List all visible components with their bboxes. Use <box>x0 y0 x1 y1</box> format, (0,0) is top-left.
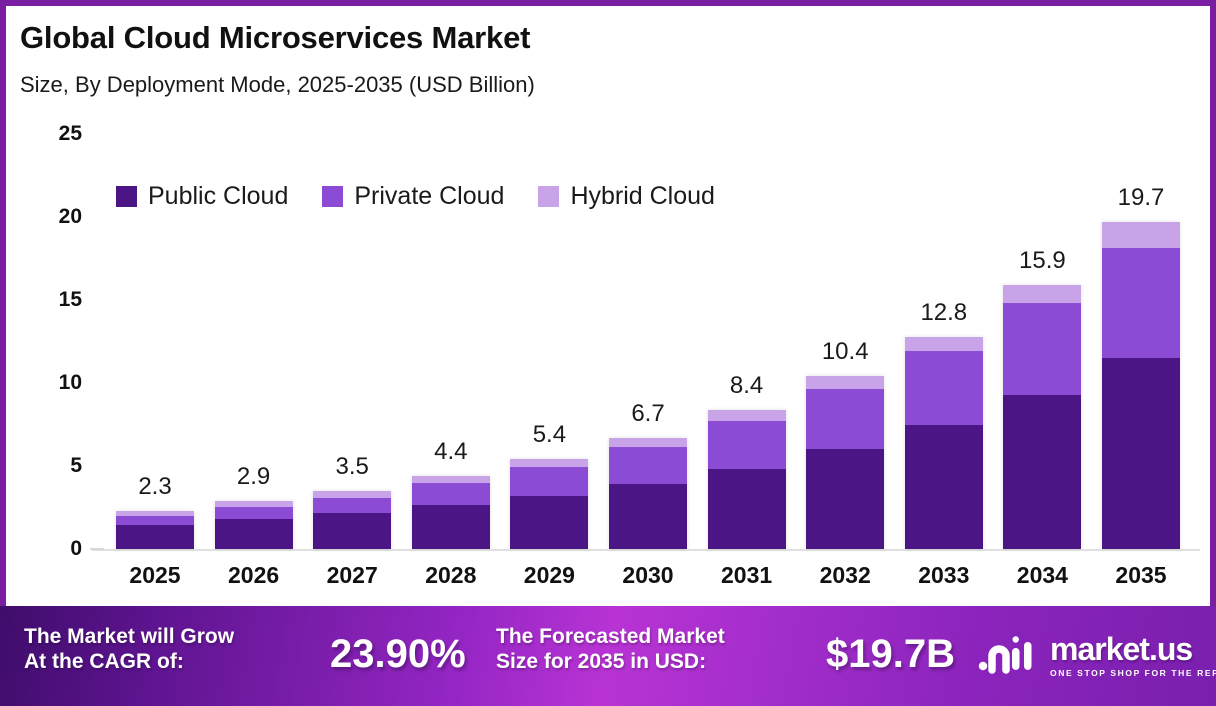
bar-segment-private-2033 <box>905 351 983 425</box>
square-swatch-icon <box>116 186 137 207</box>
legend-label-private-cloud: Private Cloud <box>354 182 504 211</box>
bar-segment-public-2029 <box>510 496 588 549</box>
bar-value-label-2034: 15.9 <box>1019 247 1066 275</box>
cagr-caption-line1: The Market will Grow <box>24 625 234 650</box>
y-axis-zero-tick <box>90 548 104 550</box>
x-axis-tick-label-2030: 2030 <box>622 562 673 589</box>
forecast-size-caption-line2: Size for 2035 in USD: <box>496 650 725 675</box>
logo-text: market.us ONE STOP SHOP FOR THE REPORTS <box>1050 633 1216 678</box>
bar-segment-hybrid-2033 <box>905 337 983 351</box>
bar-2026[interactable] <box>215 501 293 549</box>
logo-wordmark: market.us <box>1050 633 1216 665</box>
bar-segment-hybrid-2032 <box>806 376 884 388</box>
market-report-chart-infographic: Global Cloud Microservices Market Size, … <box>0 0 1216 706</box>
square-swatch-icon <box>538 186 559 207</box>
cagr-caption-line2: At the CAGR of: <box>24 650 234 675</box>
bar-segment-public-2031 <box>708 469 786 550</box>
bar-value-label-2025: 2.3 <box>138 473 171 501</box>
bar-segment-private-2029 <box>510 467 588 496</box>
logo-tagline: ONE STOP SHOP FOR THE REPORTS <box>1050 668 1216 678</box>
bar-value-label-2033: 12.8 <box>920 299 967 327</box>
bar-segment-private-2026 <box>215 507 293 519</box>
bar-segment-public-2030 <box>609 484 687 549</box>
market-us-logo-icon <box>978 636 1040 676</box>
bar-segment-hybrid-2028 <box>412 476 490 483</box>
bar-segment-hybrid-2030 <box>609 438 687 447</box>
chart-area: Global Cloud Microservices Market Size, … <box>6 6 1210 606</box>
forecast-size-value: $19.7B <box>826 632 955 677</box>
x-axis-tick-label-2026: 2026 <box>228 562 279 589</box>
bar-segment-private-2030 <box>609 447 687 484</box>
bar-2034[interactable] <box>1003 285 1081 549</box>
bar-segment-public-2027 <box>313 513 391 549</box>
bar-2029[interactable] <box>510 459 588 549</box>
bar-segment-public-2035 <box>1102 358 1180 549</box>
forecast-size-caption-line1: The Forecasted Market <box>496 625 725 650</box>
x-axis-tick-label-2031: 2031 <box>721 562 772 589</box>
legend-label-public-cloud: Public Cloud <box>148 182 288 211</box>
frame-border-right <box>1210 0 1216 606</box>
bar-2028[interactable] <box>412 476 490 549</box>
y-axis-tick-label: 0 <box>34 537 82 561</box>
y-axis-tick-label: 25 <box>34 122 82 146</box>
x-axis-tick-label-2034: 2034 <box>1017 562 1068 589</box>
bar-value-label-2030: 6.7 <box>631 400 664 428</box>
legend-item-private-cloud[interactable]: Private Cloud <box>322 182 504 211</box>
square-swatch-icon <box>322 186 343 207</box>
bar-segment-public-2034 <box>1003 395 1081 549</box>
cagr-value: 23.90% <box>330 632 466 677</box>
legend-item-public-cloud[interactable]: Public Cloud <box>116 182 288 211</box>
bar-value-label-2029: 5.4 <box>533 421 566 449</box>
bar-value-label-2027: 3.5 <box>336 453 369 481</box>
x-axis-tick-label-2033: 2033 <box>918 562 969 589</box>
x-axis-tick-label-2025: 2025 <box>129 562 180 589</box>
bar-value-label-2028: 4.4 <box>434 438 467 466</box>
x-axis-tick-label-2028: 2028 <box>425 562 476 589</box>
bar-segment-private-2034 <box>1003 303 1081 395</box>
bar-segment-private-2032 <box>806 389 884 449</box>
bar-2031[interactable] <box>708 410 786 549</box>
bar-segment-hybrid-2035 <box>1102 222 1180 248</box>
bar-2027[interactable] <box>313 491 391 549</box>
brand-logo[interactable]: market.us ONE STOP SHOP FOR THE REPORTS <box>978 633 1216 678</box>
bar-segment-private-2025 <box>116 516 194 525</box>
bar-segment-private-2031 <box>708 421 786 468</box>
legend-label-hybrid-cloud: Hybrid Cloud <box>570 182 715 211</box>
x-axis-tick-label-2027: 2027 <box>327 562 378 589</box>
bar-value-label-2035: 19.7 <box>1118 184 1165 212</box>
bar-value-label-2031: 8.4 <box>730 372 763 400</box>
axis-baseline <box>92 549 1200 551</box>
plot-region: 05101520252.320252.920263.520274.420285.… <box>6 6 1210 606</box>
bar-2025[interactable] <box>116 511 194 549</box>
bar-segment-private-2035 <box>1102 248 1180 358</box>
x-axis-tick-label-2029: 2029 <box>524 562 575 589</box>
bar-2032[interactable] <box>806 376 884 549</box>
y-axis-tick-label: 20 <box>34 205 82 229</box>
x-axis-tick-label-2032: 2032 <box>820 562 871 589</box>
bar-segment-public-2033 <box>905 425 983 550</box>
bar-value-label-2032: 10.4 <box>822 338 869 366</box>
bar-segment-public-2032 <box>806 449 884 549</box>
bar-2030[interactable] <box>609 438 687 549</box>
x-axis-tick-label-2035: 2035 <box>1115 562 1166 589</box>
bar-2033[interactable] <box>905 337 983 549</box>
chart-legend: Public Cloud Private Cloud Hybrid Cloud <box>116 182 715 211</box>
y-axis-tick-label: 15 <box>34 288 82 312</box>
bar-segment-public-2028 <box>412 505 490 549</box>
bar-segment-public-2026 <box>215 519 293 549</box>
forecast-size-caption: The Forecasted Market Size for 2035 in U… <box>496 625 725 675</box>
bar-segment-hybrid-2029 <box>510 459 588 466</box>
bar-segment-hybrid-2034 <box>1003 285 1081 302</box>
bar-segment-hybrid-2031 <box>708 410 786 422</box>
bar-segment-private-2028 <box>412 483 490 505</box>
bar-value-label-2026: 2.9 <box>237 463 270 491</box>
bar-segment-public-2025 <box>116 525 194 549</box>
y-axis-tick-label: 5 <box>34 454 82 478</box>
bar-segment-hybrid-2027 <box>313 491 391 498</box>
bar-2035[interactable] <box>1102 222 1180 549</box>
bar-segment-private-2027 <box>313 498 391 514</box>
y-axis-tick-label: 10 <box>34 371 82 395</box>
legend-item-hybrid-cloud[interactable]: Hybrid Cloud <box>538 182 715 211</box>
cagr-caption: The Market will Grow At the CAGR of: <box>24 625 234 675</box>
